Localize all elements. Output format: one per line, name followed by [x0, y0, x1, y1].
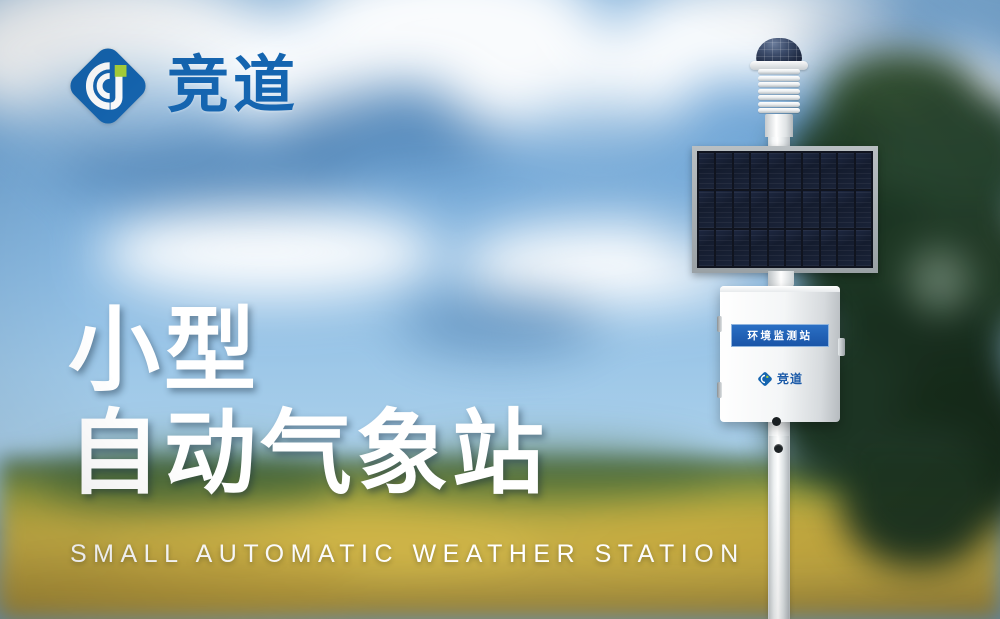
solar-cell [699, 191, 714, 227]
solar-cell [751, 191, 766, 227]
enclosure-top-edge [720, 286, 840, 292]
headline-line-1: 小型 [68, 300, 548, 403]
solar-cell [821, 153, 836, 189]
enclosure-brand-logo: 竞道 [720, 370, 840, 387]
solar-cell [769, 230, 784, 266]
solar-cell [821, 191, 836, 227]
solar-cell [803, 230, 818, 266]
solar-cell [838, 153, 853, 189]
solar-cell [751, 153, 766, 189]
solar-cell [699, 230, 714, 266]
subtitle: SMALL AUTOMATIC WEATHER STATION [70, 540, 745, 569]
brand-name: 竞道 [167, 55, 299, 117]
solar-cell [856, 230, 871, 266]
solar-cell [838, 191, 853, 227]
solar-cell [803, 153, 818, 189]
solar-cell [734, 153, 749, 189]
jingdao-diamond-logo-icon [757, 371, 773, 387]
solar-cell [769, 153, 784, 189]
ultrasonic-weather-sensor [746, 36, 812, 140]
solar-cell [838, 230, 853, 266]
pole-bolt-icon [774, 444, 783, 453]
solar-cell [716, 153, 731, 189]
solar-cell [699, 153, 714, 189]
solar-panel-bracket [768, 271, 794, 287]
page-title: 小型 自动气象站 [68, 300, 548, 506]
solar-panel-icon [692, 146, 878, 273]
enclosure-box: 环境监测站 竞道 [720, 286, 840, 422]
solar-cell [821, 230, 836, 266]
solar-cell [769, 191, 784, 227]
headline-line-2: 自动气象站 [68, 403, 548, 506]
sensor-neck [765, 114, 793, 137]
enclosure-banner-text: 环境监测站 [748, 328, 813, 343]
brand-logo[interactable]: 竞道 [66, 44, 299, 128]
solar-cell [716, 230, 731, 266]
solar-cell [856, 191, 871, 227]
enclosure-brand-text: 竞道 [777, 370, 803, 387]
product-banner: 环境监测站 竞道 竞道 [0, 0, 1000, 619]
enclosure-vent-icon [772, 417, 781, 426]
solar-cell [786, 191, 801, 227]
weather-station-product: 环境监测站 竞道 [690, 36, 890, 619]
enclosure-latch [838, 338, 845, 356]
solar-cell [734, 230, 749, 266]
enclosure-hinge-upper [717, 316, 722, 332]
radiation-shield-louvers-icon [758, 69, 800, 115]
enclosure-banner: 环境监测站 [731, 324, 829, 347]
solar-cell [856, 153, 871, 189]
solar-cell [803, 191, 818, 227]
jingdao-diamond-logo-icon [66, 44, 150, 128]
solar-cell [786, 230, 801, 266]
solar-cell [734, 191, 749, 227]
mounting-pole-lower-icon [769, 436, 789, 619]
solar-cell [786, 153, 801, 189]
solar-cell [716, 191, 731, 227]
solar-cell [751, 230, 766, 266]
